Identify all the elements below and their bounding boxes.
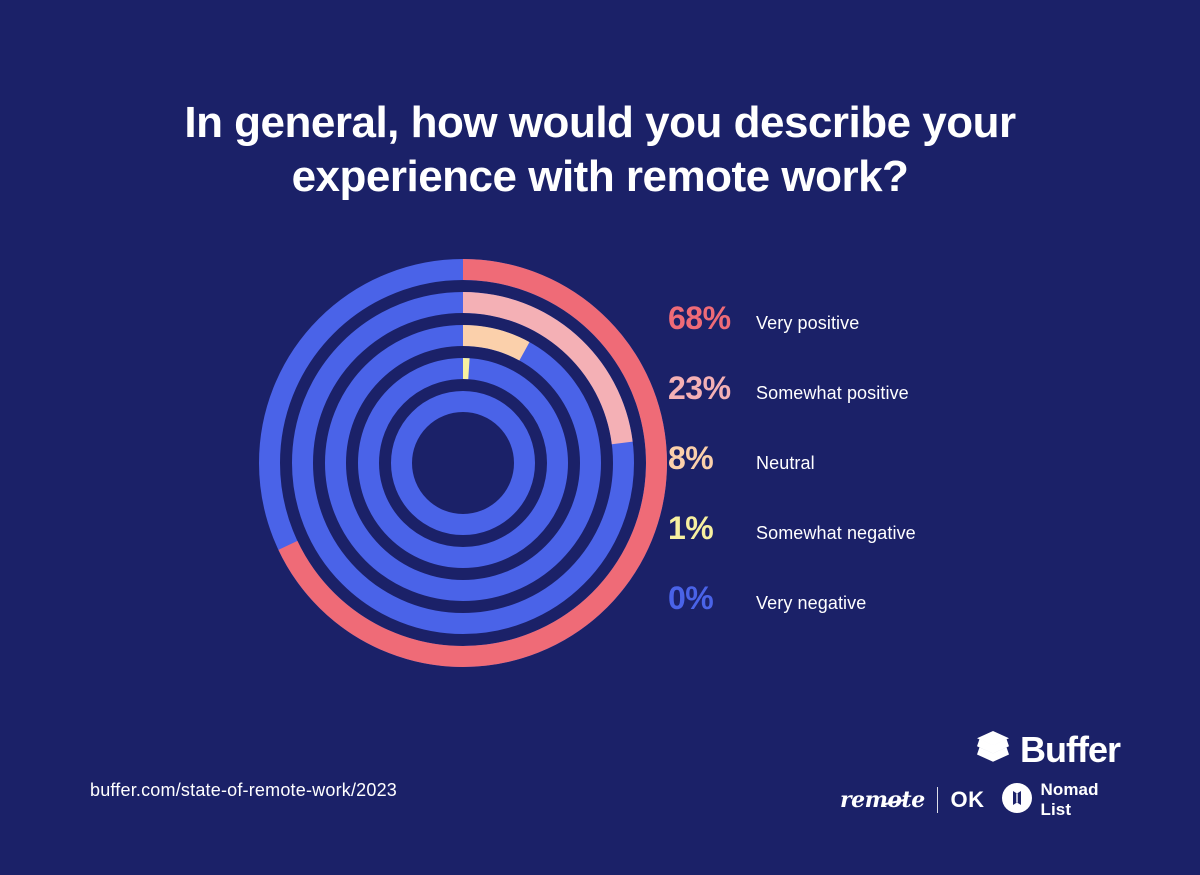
legend-item-neutral: 8% Neutral bbox=[668, 440, 1138, 510]
legend-percent: 8% bbox=[668, 440, 756, 477]
legend-item-very-negative: 0% Very negative bbox=[668, 580, 1138, 650]
nomad-list-circle-icon bbox=[1002, 783, 1032, 818]
legend-label: Very negative bbox=[756, 593, 866, 614]
remote-wordmark: remote bbox=[840, 787, 925, 813]
partner-logos: remote OK Nomad List bbox=[840, 780, 1120, 820]
legend-percent: 0% bbox=[668, 580, 756, 617]
legend-label: Somewhat positive bbox=[756, 383, 909, 404]
legend-item-somewhat-positive: 23% Somewhat positive bbox=[668, 370, 1138, 440]
nomad-list-wordmark: Nomad List bbox=[1040, 780, 1120, 820]
legend-percent: 1% bbox=[668, 510, 756, 547]
buffer-wordmark: Buffer bbox=[1020, 732, 1120, 768]
ring-segment bbox=[463, 325, 529, 360]
source-url: buffer.com/state-of-remote-work/2023 bbox=[90, 780, 397, 801]
chart-legend: 68% Very positive 23% Somewhat positive … bbox=[668, 300, 1138, 650]
legend-item-somewhat-negative: 1% Somewhat negative bbox=[668, 510, 1138, 580]
title-line-2: experience with remote work? bbox=[70, 150, 1130, 204]
legend-item-very-positive: 68% Very positive bbox=[668, 300, 1138, 370]
title-line-1: In general, how would you describe your bbox=[184, 98, 1015, 147]
radial-ring-chart bbox=[258, 258, 668, 668]
ok-wordmark: OK bbox=[950, 787, 984, 813]
legend-label: Neutral bbox=[756, 453, 815, 474]
legend-label: Somewhat negative bbox=[756, 523, 916, 544]
remote-text: remote bbox=[840, 787, 925, 813]
stacked-layers-icon bbox=[975, 730, 1011, 769]
buffer-logo: Buffer bbox=[975, 730, 1120, 769]
chart-svg bbox=[258, 258, 668, 668]
nomad-list-logo: Nomad List bbox=[1002, 780, 1120, 820]
brand-lockup: Buffer remote OK Nomad List bbox=[840, 730, 1120, 820]
brand-divider bbox=[937, 787, 939, 813]
legend-percent: 23% bbox=[668, 370, 756, 407]
ring-track bbox=[402, 402, 525, 525]
legend-label: Very positive bbox=[756, 313, 859, 334]
page-title: In general, how would you describe your … bbox=[0, 96, 1200, 203]
legend-percent: 68% bbox=[668, 300, 756, 337]
